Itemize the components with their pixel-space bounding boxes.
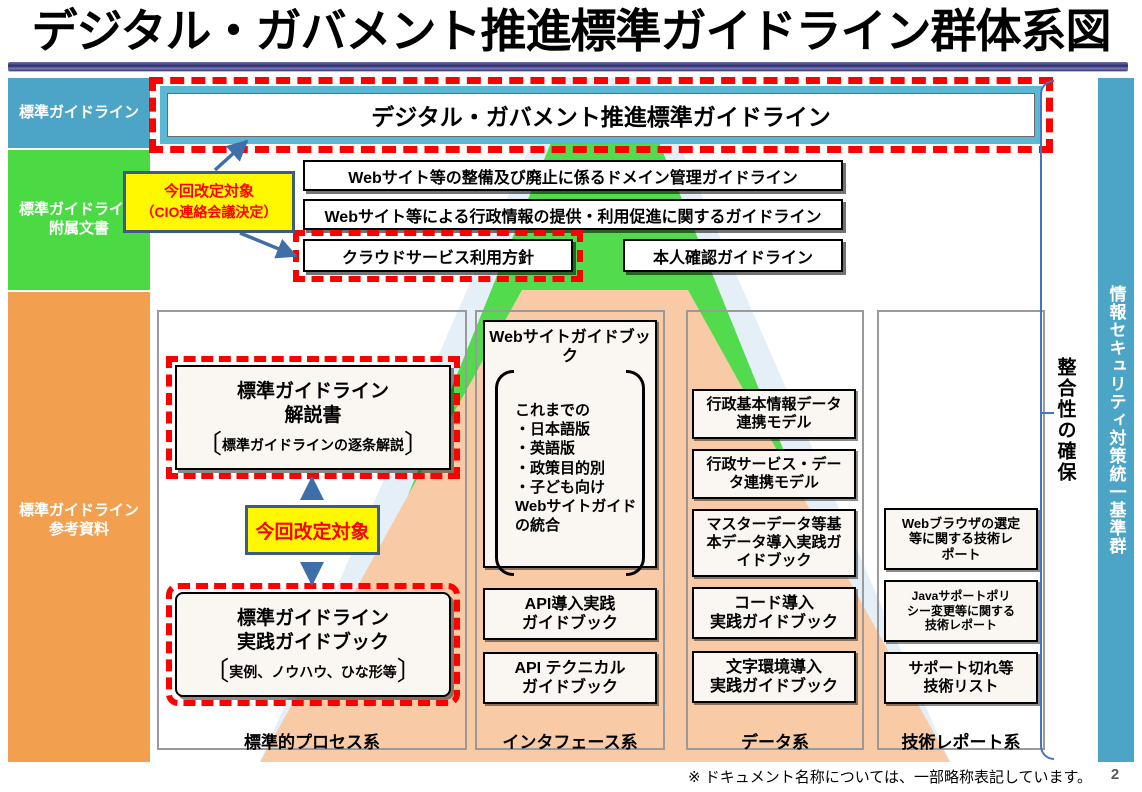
c4-i2-l2: 技術リスト (923, 678, 998, 695)
c4-i2-l1: サポート切れ等 (908, 660, 1013, 677)
c4-i1-l1: Javaサポートポリ (912, 589, 1011, 603)
c2-i0-l1: API導入実践 (525, 596, 616, 613)
bracket-right-icon: 〕 (404, 431, 430, 457)
box-website-guidebook-heading: Webサイトガイドブック (485, 328, 655, 366)
revision-target-badge[interactable]: 今回改定対象 (245, 505, 380, 555)
box-character-environment-guidebook[interactable]: 文字環境導入 実践ガイドブック (692, 651, 856, 703)
c3-i0-l2: 連携モデル (736, 414, 811, 431)
box-standard-guideline-practice-guidebook[interactable]: 標準ガイドライン 実践ガイドブック 〔 実例、ノウハウ、ひな形等 〕 (175, 592, 451, 697)
attached-document-identity-verification[interactable]: 本人確認ガイドライン (623, 239, 843, 272)
c4-i0-text: Webブラウザの選定 等に関する技術レ ポート (902, 516, 1020, 563)
c4-i0-l3: ポート (941, 547, 980, 562)
box-practice-subtitle-text: 実例、ノウハウ、ひな形等 (229, 664, 397, 680)
box-java-support-policy-report[interactable]: Javaサポートポリ シー変更等に関する 技術レポート (884, 580, 1038, 642)
box-end-of-support-tech-list[interactable]: サポート切れ等 技術リスト (884, 652, 1038, 704)
c3-i3-text: コード導入 実践ガイドブック (710, 594, 838, 632)
box-api-technical-text: API テクニカル ガイドブック (514, 659, 625, 697)
category-standard-guideline: 標準ガイドライン (8, 78, 150, 148)
c3-i1-l2: タ連携モデル (729, 474, 819, 491)
box-standard-guideline-commentary[interactable]: 標準ガイドライン 解説書 〔 標準ガイドラインの逐条解説 〕 (175, 365, 451, 470)
consistency-label: 整合性の確保 (1052, 345, 1078, 495)
c3-i0-l1: 行政基本情報データ (706, 396, 841, 413)
c2-i1-l1: API テクニカル (514, 660, 625, 677)
box-commentary-title: 標準ガイドライン 解説書 (237, 380, 389, 428)
c3-i4-l1: 文字環境導入 (726, 659, 822, 676)
box-commentary-subtitle-text: 標準ガイドラインの逐条解説 (222, 437, 404, 453)
box-api-implementation-text: API導入実践 ガイドブック (522, 595, 618, 633)
title-divider (8, 62, 1128, 71)
box-admin-basic-info-data-model[interactable]: 行政基本情報データ 連携モデル (692, 389, 856, 439)
box-api-technical-guidebook[interactable]: API テクニカル ガイドブック (483, 652, 657, 704)
box-practice-title: 標準ガイドライン 実践ガイドブック (237, 607, 389, 655)
c3-i4-text: 文字環境導入 実践ガイドブック (710, 658, 838, 696)
standard-guideline-box[interactable]: デジタル・ガバメント推進標準ガイドライン (160, 86, 1042, 144)
c4-i0-l1: Webブラウザの選定 (902, 516, 1020, 531)
attached-document-domain-management[interactable]: Webサイト等の整備及び廃止に係るドメイン管理ガイドライン (303, 160, 843, 191)
c3-i3-l1: コード導入 (734, 595, 814, 612)
box-code-implementation-guidebook[interactable]: コード導入 実践ガイドブック (692, 587, 856, 639)
wg-line-6: Webサイトガイド (515, 497, 636, 516)
column-label-standard-process: 標準的プロセス系 (157, 728, 467, 753)
c4-i1-text: Javaサポートポリ シー変更等に関する 技術レポート (907, 589, 1015, 632)
footnote: ※ ドキュメント名称については、一部略称表記しています。 (0, 766, 1092, 787)
c3-i3-l2: 実践ガイドブック (710, 614, 838, 631)
attached-document-cloud-policy[interactable]: クラウドサービス利用方針 (303, 239, 573, 272)
category-standard-guideline-label: 標準ガイドライン (19, 104, 139, 123)
c3-i2-text: マスターデータ等基 本データ導入実践ガ イドブック (706, 516, 841, 570)
page-title: デジタル・ガバメント推進標準ガイドライン群体系図 (0, 2, 1142, 60)
c3-i4-l2: 実践ガイドブック (710, 678, 838, 695)
wg-line-7: の統合 (515, 516, 636, 535)
bracket-left-icon: 〔 (203, 658, 229, 684)
category-attached-documents-label: 標準ガイドライン 附属文書 (19, 201, 139, 239)
box-master-data-guidebook[interactable]: マスターデータ等基 本データ導入実践ガ イドブック (692, 509, 856, 577)
security-standards-bar: 情報セキュリティ対策統一基準群 (1098, 78, 1134, 762)
category-reference-materials-label: 標準ガイドライン 参考資料 (19, 502, 139, 540)
bracket-left-icon: 〔 (196, 431, 222, 457)
box-website-guidebook[interactable]: Webサイトガイドブック これまでの ・日本語版 ・英語版 ・政策目的別 ・子ど… (483, 320, 657, 568)
box-api-implementation-guidebook[interactable]: API導入実践 ガイドブック (483, 588, 657, 640)
wg-line-5: ・子ども向け (515, 478, 636, 497)
brace-right-icon (626, 370, 645, 576)
column-label-technical-report: 技術レポート系 (877, 728, 1045, 753)
c3-i2-l1: マスターデータ等基 (706, 516, 841, 533)
bracket-right-icon: 〕 (397, 658, 423, 684)
revision-target-callout[interactable]: 今回改定対象 （CIO連絡会議決定） (123, 171, 295, 233)
wg-line-1: これまでの (515, 401, 636, 420)
c3-i1-text: 行政サービス・デー タ連携モデル (706, 456, 841, 492)
page-number: 2 (1100, 766, 1130, 783)
box-practice-title-line2: 実践ガイドブック (237, 632, 389, 653)
box-website-guidebook-lines: これまでの ・日本語版 ・英語版 ・政策目的別 ・子ども向け Webサイトガイド… (515, 401, 636, 535)
box-practice-subtitle: 〔 実例、ノウハウ、ひな形等 〕 (203, 662, 423, 682)
category-attached-line2: 附属文書 (49, 220, 109, 237)
attached-document-website-info[interactable]: Webサイト等による行政情報の提供・利用促進に関するガイドライン (303, 199, 843, 230)
box-commentary-title-line2: 解説書 (284, 405, 341, 426)
standard-guideline-title: デジタル・ガバメント推進標準ガイドライン (167, 93, 1035, 137)
c4-i0-l2: 等に関する技術レ (909, 531, 1013, 546)
category-reference-line1: 標準ガイドライン (19, 502, 139, 519)
brace-left-icon (495, 370, 514, 576)
category-reference-line2: 参考資料 (49, 521, 109, 538)
c3-i2-l2: 本データ導入実践ガ (706, 534, 841, 551)
wg-line-3: ・英語版 (515, 439, 636, 458)
c4-i1-l2: シー変更等に関する (907, 604, 1015, 618)
box-web-browser-selection-report[interactable]: Webブラウザの選定 等に関する技術レ ポート (884, 508, 1038, 570)
revision-target-callout-line1: 今回改定対象 (164, 182, 254, 202)
c2-i1-l2: ガイドブック (522, 679, 618, 696)
c3-i2-l3: イドブック (736, 552, 811, 569)
box-practice-title-line1: 標準ガイドライン (237, 608, 389, 629)
category-reference-materials: 標準ガイドライン 参考資料 (8, 292, 150, 762)
category-attached-line1: 標準ガイドライン (19, 201, 139, 218)
box-commentary-title-line1: 標準ガイドライン (237, 381, 389, 402)
c4-i2-text: サポート切れ等 技術リスト (908, 660, 1013, 696)
revision-target-callout-line2: （CIO連絡会議決定） (141, 203, 278, 222)
wg-line-2: ・日本語版 (515, 420, 636, 439)
column-label-interface: インタフェース系 (475, 728, 665, 753)
box-admin-service-data-model[interactable]: 行政サービス・デー タ連携モデル (692, 449, 856, 499)
c4-i1-l3: 技術レポート (925, 618, 997, 632)
c3-i1-l1: 行政サービス・デー (706, 456, 841, 473)
c3-i0-text: 行政基本情報データ 連携モデル (706, 396, 841, 432)
box-website-guidebook-body: これまでの ・日本語版 ・英語版 ・政策目的別 ・子ども向け Webサイトガイド… (495, 370, 645, 566)
column-label-data: データ系 (686, 728, 864, 753)
c2-i0-l2: ガイドブック (522, 615, 618, 632)
box-commentary-subtitle: 〔 標準ガイドラインの逐条解説 〕 (196, 435, 430, 455)
wg-line-4: ・政策目的別 (515, 459, 636, 478)
